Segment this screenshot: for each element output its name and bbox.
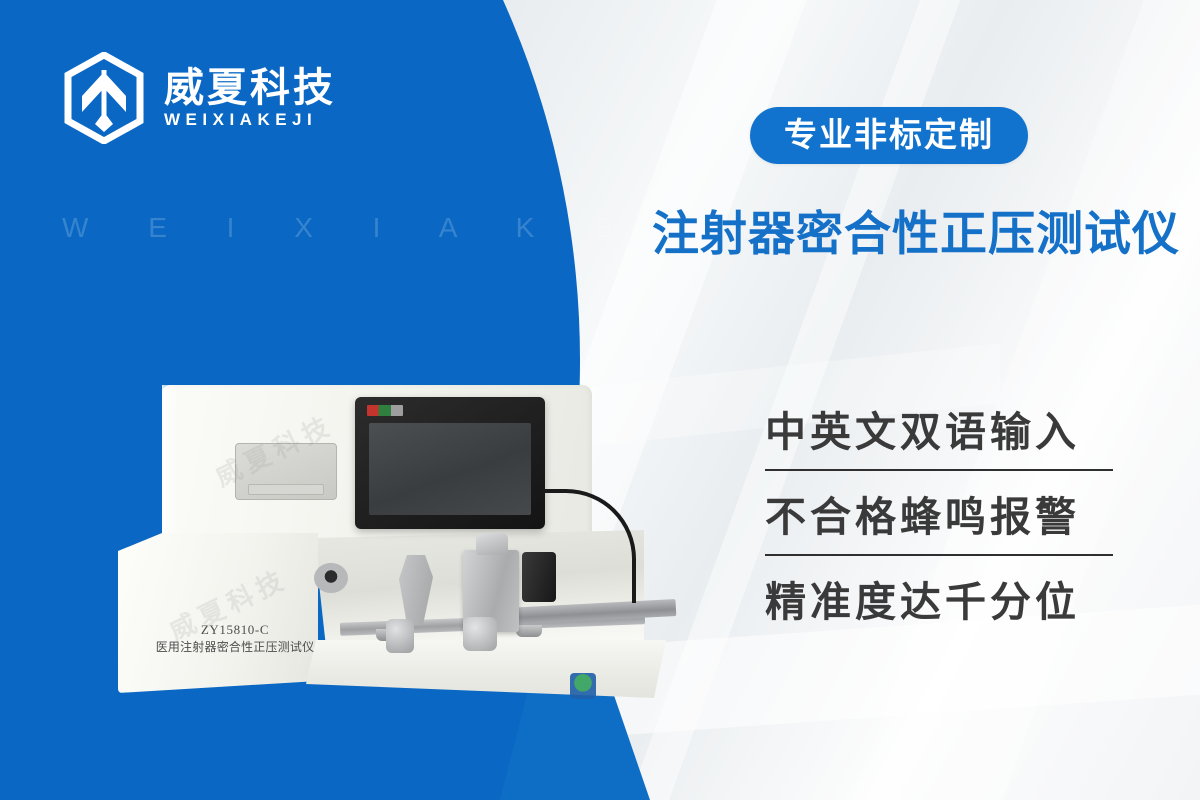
custom-service-badge: 专业非标定制 bbox=[750, 107, 1028, 164]
certification-sticker-icon bbox=[570, 673, 596, 699]
feature-list: 中英文双语输入 不合格蜂鸣报警 精准度达千分位 bbox=[765, 404, 1113, 639]
product-photo: 威夏科技 威夏科技 ZY15810-C 医用注射器密合性正压测试仪 bbox=[118, 385, 698, 730]
brand-logo: 威夏科技 WEIXIAKEJI bbox=[62, 52, 336, 144]
spacer bbox=[765, 556, 1113, 574]
hexagon-arrow-emblem-icon bbox=[62, 52, 146, 144]
feature-item: 精准度达千分位 bbox=[765, 574, 1113, 639]
feature-item: 中英文双语输入 bbox=[765, 404, 1113, 469]
brand-name-en: WEIXIAKEJI bbox=[164, 111, 336, 128]
hmi-display bbox=[369, 423, 531, 515]
machine-adjust-knob bbox=[386, 619, 414, 653]
hmi-brand-strip-icon bbox=[367, 405, 403, 416]
hmi-touchscreen bbox=[355, 397, 545, 529]
feature-item: 不合格蜂鸣报警 bbox=[765, 489, 1113, 554]
machine-nameplate: ZY15810-C 医用注射器密合性正压测试仪 bbox=[142, 621, 328, 656]
product-title: 注射器密合性正压测试仪 bbox=[652, 206, 1180, 262]
machine-port-icon bbox=[314, 563, 348, 593]
machine-model-description: 医用注射器密合性正压测试仪 bbox=[142, 639, 328, 656]
machine-model-number: ZY15810-C bbox=[142, 621, 328, 639]
spacer bbox=[765, 471, 1113, 489]
brand-logo-text: 威夏科技 WEIXIAKEJI bbox=[164, 68, 336, 128]
machine-roller bbox=[516, 625, 542, 637]
brand-name-cn: 威夏科技 bbox=[164, 68, 336, 108]
machine-top-knob bbox=[476, 533, 508, 555]
product-banner: W E I X I A K E J I 威夏科技 WEIXIAKEJI 专业非标… bbox=[0, 0, 1200, 800]
machine-cable bbox=[542, 489, 636, 603]
machine-lower-knob bbox=[463, 617, 497, 651]
